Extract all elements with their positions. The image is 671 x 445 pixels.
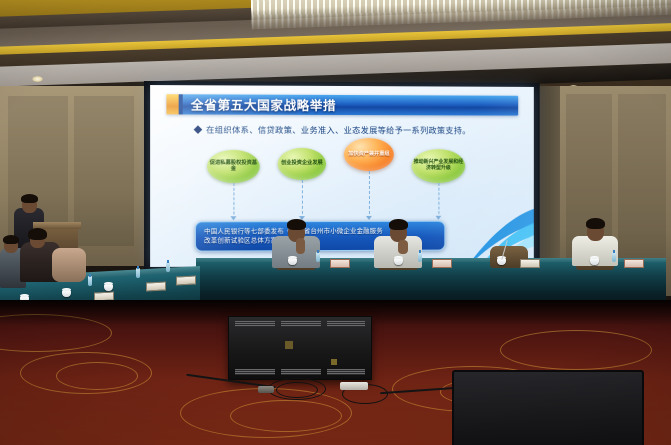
name-card <box>146 281 166 291</box>
slide-bubble-3: 加快资产兼并重组 <box>344 138 394 171</box>
power-strip <box>340 382 368 390</box>
downlight <box>32 76 43 82</box>
case-latch <box>285 341 293 349</box>
slide-bullet-row: 在组织体系、信贷政策、业务准入、业态发展等给予一系列政策支持。 <box>195 123 516 138</box>
title-orange-accent-bar <box>166 94 178 114</box>
wall-panel <box>74 96 134 246</box>
name-plate <box>330 259 350 268</box>
case-vent <box>235 321 275 327</box>
connector-line <box>369 171 370 219</box>
case-latch <box>331 359 337 365</box>
slide-bubble-2-label: 创业投资企业发展 <box>280 161 324 167</box>
slide-bubble-1-label: 促进私募股权投资基金 <box>209 161 258 173</box>
name-card <box>176 275 196 285</box>
connector-plug <box>258 386 274 393</box>
hair <box>3 235 19 244</box>
arrow-icon <box>230 216 236 220</box>
slide-bullet-text: 在组织体系、信贷政策、业务准入、业态发展等给予一系列政策支持。 <box>206 124 471 137</box>
hair <box>389 219 408 230</box>
carpet-pattern <box>230 400 342 432</box>
water-bottle <box>88 276 92 286</box>
floor-monitor <box>452 370 644 445</box>
water-bottle <box>136 268 140 278</box>
slide-bubble-1: 促进私募股权投资基金 <box>207 150 260 183</box>
water-bottle <box>316 252 320 262</box>
water-bottle <box>418 252 422 262</box>
teacup <box>394 258 403 265</box>
slide-title: 全省第五大国家战略举措 <box>191 96 512 114</box>
slide-bubble-4-label: 推动新兴产业发展和经济转型升级 <box>414 160 463 171</box>
teacup <box>288 258 297 265</box>
slide-title-bar: 全省第五大国家战略举措 <box>166 94 518 115</box>
carpet-pattern <box>56 362 138 390</box>
hair <box>21 194 38 203</box>
teacup <box>104 284 113 291</box>
slide-bubble-4: 推动新兴产业发展和经济转型升级 <box>412 149 465 183</box>
slide-bubble-2: 创业投资企业发展 <box>278 148 326 180</box>
name-plate <box>520 259 540 268</box>
presentation-slide: 全省第五大国家战略举措 在组织体系、信贷政策、业务准入、业态发展等给予一系列政策… <box>150 85 534 267</box>
name-plate <box>432 259 452 268</box>
water-bottle <box>166 262 170 272</box>
carpet-pattern <box>500 330 652 370</box>
torso <box>52 248 86 282</box>
arm <box>296 238 305 254</box>
equipment-case <box>228 316 372 380</box>
slide-bubble-3-label: 加快资产兼并重组 <box>346 152 392 158</box>
wall-panel <box>618 94 666 284</box>
connector-line <box>233 183 234 219</box>
hair <box>28 228 47 240</box>
hair <box>287 219 306 230</box>
arm <box>398 240 408 254</box>
teacup <box>590 258 599 265</box>
name-plate <box>624 259 644 268</box>
arrow-icon <box>366 216 372 220</box>
case-vent <box>281 369 321 375</box>
connector-line <box>302 180 303 219</box>
case-vent <box>235 369 275 375</box>
hair <box>586 218 605 229</box>
cable-coil <box>276 382 318 398</box>
title-blue-accent-bar <box>179 94 183 114</box>
water-bottle <box>612 252 616 262</box>
conference-room-photo: 全省第五大国家战略举措 在组织体系、信贷政策、业务准入、业态发展等给予一系列政策… <box>0 0 671 445</box>
case-vent <box>281 321 321 327</box>
case-vent <box>327 369 365 375</box>
ceiling <box>0 0 671 92</box>
teacup <box>62 290 71 297</box>
case-vent <box>327 321 365 327</box>
diamond-bullet-icon <box>194 125 203 134</box>
